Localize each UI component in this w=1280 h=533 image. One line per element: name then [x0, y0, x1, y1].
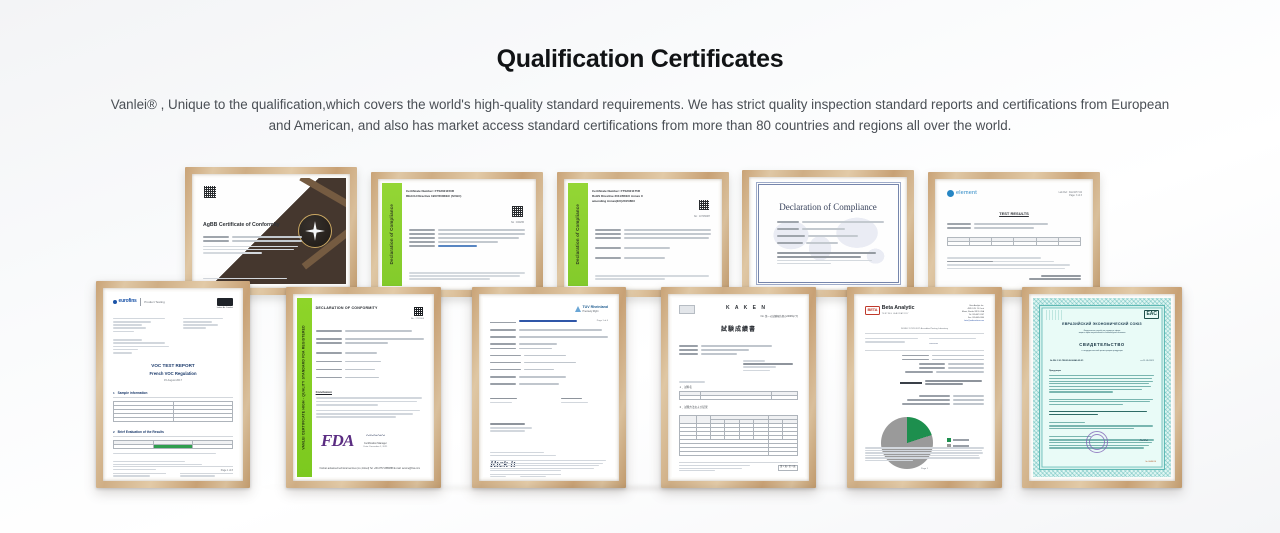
kaken-logo-text: K A K E N	[695, 305, 798, 312]
eurofins-mark-icon	[113, 300, 117, 304]
beta-logo-box: BETA	[865, 306, 880, 315]
table-cell	[1014, 242, 1036, 246]
field-row	[777, 235, 885, 237]
table-cell	[173, 417, 233, 421]
table-row	[680, 452, 798, 456]
tuv-report-number	[519, 320, 577, 322]
frame-matte: Declaration of Compliance	[749, 177, 907, 290]
field-row	[490, 369, 608, 371]
field-row	[947, 223, 1081, 225]
tuv-result-block	[561, 398, 608, 404]
field-row	[595, 237, 711, 239]
table-cell	[1058, 242, 1080, 246]
tuv-triangle-icon	[575, 306, 581, 312]
eurofins-report-subtitle: French VOC Regulation	[113, 371, 233, 377]
table-cell	[992, 242, 1014, 246]
field-row	[777, 242, 885, 244]
field-row	[679, 349, 798, 351]
field-row	[865, 371, 984, 373]
pie-chart-legend	[947, 438, 969, 448]
field-row	[865, 363, 984, 365]
tuv-other-info-block	[490, 423, 608, 431]
field-row	[203, 240, 302, 242]
certificate-paper-agbb: AgBB Certificate of Conformity	[196, 178, 346, 284]
green-band-label: VANLEI CERTIFICATE HIGH - QUALITY STANDA…	[302, 325, 307, 449]
qr-code-icon	[413, 306, 424, 317]
field-row	[595, 229, 711, 231]
field-row	[595, 233, 711, 235]
table-cell	[680, 396, 701, 400]
eac-header: ЕВРАЗИЙСКИЙ ЭКОНОМИЧЕСКИЙ СОЮЗ	[1048, 322, 1156, 327]
agbb-title: AgBB Certificate of Conformity	[203, 222, 293, 230]
field-row	[409, 245, 525, 247]
element-ref-line-2: Page: 3 of 3	[1059, 194, 1082, 197]
floor-shadow	[90, 486, 1190, 502]
eurofins-sample-table	[113, 401, 233, 422]
field-row	[777, 221, 885, 223]
certificate-frame-agbb[interactable]: AgBB Certificate of Conformity	[185, 167, 357, 295]
table-cell	[970, 242, 992, 246]
field-row	[865, 403, 984, 405]
certificate-frame-kaken[interactable]: K A K E N No. 第一の試験報告書の2008年7月 試験成績書	[661, 287, 816, 488]
table-cell	[768, 452, 797, 456]
eac-date: от 11.05.2021	[1140, 360, 1154, 363]
table-cell	[701, 396, 772, 400]
field-row	[316, 330, 424, 332]
qr-code-icon	[511, 205, 524, 218]
table-cell	[193, 444, 233, 448]
certificate-frame-declaration-of-compliance[interactable]: Declaration of Compliance	[742, 170, 914, 297]
tuv-page-number: Page 1 of 4	[597, 320, 608, 323]
beta-contact-block: Beta Analytic Inc. 4985 S.W. 74 Court Mi…	[962, 305, 984, 323]
certificate-frame-fda[interactable]: VANLEI CERTIFICATE HIGH - QUALITY STANDA…	[286, 287, 441, 488]
frame-matte: VANLEI CERTIFICATE HIGH - QUALITY STANDA…	[293, 294, 434, 481]
eurofins-section-1-number: 1	[113, 391, 115, 395]
field-row	[865, 355, 984, 357]
frame-matte: element Lab Ref : Doc3477-04 Page: 3 of …	[935, 179, 1093, 290]
table-cell	[948, 242, 970, 246]
kaken-section-2: ２．試験方法および結果	[679, 406, 798, 410]
field-row	[679, 353, 798, 355]
field-row	[865, 399, 984, 401]
page-description-line-1: Vanlei® , Unique to the qualification,wh…	[111, 97, 1077, 112]
tuv-logo-icon: TUV Rheinland Precisely Right	[575, 305, 608, 314]
field-row	[490, 383, 608, 385]
field-row	[947, 227, 1081, 229]
field-row	[409, 233, 525, 235]
certificate-paper-eac: EAC ЕВРАЗИЙСКИЙ ЭКОНОМИЧЕСКИЙ СОЮЗ Федер…	[1033, 298, 1171, 477]
beta-contact-email: beta@radiocarbon.com	[962, 320, 984, 323]
qr-code-icon	[698, 199, 710, 211]
certificate-paper-element: element Lab Ref : Doc3477-04 Page: 3 of …	[939, 183, 1089, 286]
field-row	[865, 395, 984, 397]
eac-subheader-2: защиты прав потребителей и благополучия …	[1048, 332, 1156, 335]
element-logo-icon: element	[947, 190, 977, 198]
table-cell	[1036, 242, 1058, 246]
beta-tagline: ISO/IEC 17025:2017 Accredited Testing La…	[865, 328, 984, 331]
table-row	[680, 396, 798, 400]
element-title: TEST RESULTS	[939, 211, 1089, 217]
field-row	[203, 236, 302, 238]
eurofins-report-date: 15 August 2017	[113, 379, 233, 383]
agbb-seal-icon	[298, 214, 332, 248]
eac-inner-panel: EAC ЕВРАЗИЙСКИЙ ЭКОНОМИЧЕСКИЙ СОЮЗ Федер…	[1039, 305, 1165, 470]
legend-swatch-biobased	[947, 438, 951, 442]
eac-signature: ~~	[1139, 435, 1148, 447]
table-cell	[114, 417, 174, 421]
kaken-issuer-block	[743, 360, 798, 371]
reach-ref: No : 034295	[511, 221, 524, 224]
field-row	[316, 352, 424, 354]
table-row	[114, 444, 233, 448]
eac-section-label: Продукция	[1049, 370, 1155, 373]
field-row	[865, 359, 984, 361]
green-band: Declaration of Compliance	[568, 183, 588, 286]
kaken-ref: No. 第一の試験報告書の2008年7月	[679, 315, 798, 318]
frame-matte: eurofins Product Testing Indoor Air Comf…	[103, 288, 243, 481]
table-cell-result-badge	[153, 444, 193, 448]
eurofins-logo-text: eurofins	[119, 298, 137, 305]
eurofins-result-table	[113, 440, 233, 449]
eac-number: № RU.С.01.ПМ.05.В.00040.05.21	[1050, 360, 1083, 363]
eurofins-address-block	[113, 318, 171, 332]
certificate-frame-eurofins[interactable]: eurofins Product Testing Indoor Air Comf…	[96, 281, 250, 488]
eurofins-logo-subtext: Product Testing	[144, 300, 165, 304]
field-row	[595, 247, 711, 249]
fda-footer: Foshan advanced technical services (co.,…	[316, 468, 424, 471]
certificate-paper-reach: Declaration of Compliance Certificate Nu…	[382, 183, 532, 286]
field-row	[679, 345, 798, 347]
kaken-title: 試験成績書	[679, 326, 798, 335]
field-row	[409, 237, 525, 239]
reach-header-line-2: REACH Directive 1907/2006/EC (SVHC)	[406, 194, 526, 199]
tuv-logo-subtext: Precisely Right	[582, 310, 608, 313]
official-stamp-icon	[1086, 431, 1108, 453]
eurofins-logo-icon: eurofins Product Testing	[113, 298, 165, 306]
field-row	[490, 376, 608, 378]
table-cell	[680, 452, 769, 456]
frame-matte: K A K E N No. 第一の試験報告書の2008年7月 試験成績書	[668, 294, 809, 481]
legend-label-biobased	[953, 439, 969, 441]
field-row	[490, 343, 608, 345]
certificate-frame-element-test-results[interactable]: element Lab Ref : Doc3477-04 Page: 3 of …	[928, 172, 1100, 297]
table-cell	[114, 444, 154, 448]
certificate-paper-eurofins: eurofins Product Testing Indoor Air Comf…	[107, 292, 239, 477]
element-logo-text: element	[956, 190, 977, 198]
field-row	[777, 228, 885, 230]
fda-ref: No : 2712004	[411, 318, 424, 321]
fda-signature-date: Date: December 1, 2021	[364, 446, 388, 449]
legend-label-fossil	[953, 445, 969, 447]
table-cell	[772, 396, 798, 400]
eac-badge-icon: EAC	[1144, 310, 1159, 319]
kaken-page-number: 第 1 頁 / 全 2 頁	[778, 465, 798, 471]
certificate-frame-eac[interactable]: EAC ЕВРАЗИЙСКИЙ ЭКОНОМИЧЕСКИЙ СОЮЗ Федер…	[1022, 287, 1182, 488]
page-description: Vanlei® , Unique to the qualification,wh…	[110, 95, 1170, 137]
table-header-cell	[680, 416, 697, 424]
kaken-sample-table	[679, 391, 798, 400]
fda-signature-block: ~~~~~ Certification Manager Date: Decemb…	[364, 431, 388, 449]
beta-page-number: Page 1	[858, 468, 991, 471]
indoor-air-comfort-label: Indoor Air Comfort	[217, 307, 233, 310]
field-row	[865, 367, 984, 369]
certificate-paper-rohs: Declaration of Compliance Certificate Nu…	[568, 183, 718, 286]
eac-footer-serial: № 0048016	[1146, 461, 1157, 464]
eurofins-page-number: Page 1 of 8	[221, 469, 233, 472]
page-header: Qualification Certificates Vanlei® , Uni…	[0, 0, 1280, 137]
frame-matte: AgBB Certificate of Conformity	[192, 174, 350, 288]
qr-code-icon	[203, 185, 217, 199]
certificate-paper-kaken: K A K E N No. 第一の試験報告書の2008年7月 試験成績書	[672, 298, 805, 477]
field-row	[316, 361, 424, 363]
certificate-paper-tuv: TUV Rheinland Precisely Right Page 1 of …	[483, 298, 615, 477]
eurofins-section-1-title: Sample information	[118, 391, 148, 396]
certificate-frame-rohs[interactable]: Declaration of Compliance Certificate Nu…	[557, 172, 729, 297]
certificate-paper-declaration: Declaration of Compliance	[753, 181, 903, 286]
eac-title: СВИДЕТЕЛЬСТВО	[1048, 342, 1156, 348]
rohs-header-line-3: amending Annex(EU)2015/863	[592, 199, 692, 204]
table-row	[114, 417, 233, 421]
field-row	[316, 369, 424, 371]
eac-watermark	[1046, 310, 1062, 320]
legend-item	[947, 438, 969, 442]
green-band-label: Declaration of Compliance	[389, 204, 395, 264]
field-row	[316, 338, 424, 340]
element-mark-icon	[947, 190, 954, 197]
kaken-results-table	[679, 415, 798, 456]
eurofins-section-2-title: Brief Evaluation of the Results	[118, 430, 164, 435]
field-row	[316, 377, 424, 379]
rohs-ref: No : 1074500H	[694, 215, 710, 218]
frame-matte: Declaration of Compliance Certificate Nu…	[378, 179, 536, 290]
fda-logo-icon: FDA	[321, 432, 354, 449]
frame-matte: Declaration of Compliance Certificate Nu…	[564, 179, 722, 290]
beta-logo-name: Beta Analytic	[882, 305, 915, 313]
beta-logo-subtext: TESTING LABORATORY	[882, 313, 915, 316]
kaken-section-1: １．試料名	[679, 386, 798, 390]
indoor-air-comfort-logo-icon: Indoor Air Comfort	[217, 298, 233, 310]
certificate-frame-reach[interactable]: Declaration of Compliance Certificate Nu…	[371, 172, 543, 297]
frame-matte: BETA Beta Analytic TESTING LABORATORY Be…	[854, 294, 995, 481]
four-point-star-icon	[305, 221, 325, 241]
kaken-accreditation-mark-icon	[679, 305, 695, 314]
field-row	[409, 229, 525, 231]
certificate-paper-fda: VANLEI CERTIFICATE HIGH - QUALITY STANDA…	[297, 298, 430, 477]
table-header-cell	[696, 416, 710, 424]
frame-matte: EAC ЕВРАЗИЙСКИЙ ЭКОНОМИЧЕСКИЙ СОЮЗ Федер…	[1029, 294, 1175, 481]
field-row	[490, 336, 608, 338]
frame-matte: TUV Rheinland Precisely Right Page 1 of …	[479, 294, 619, 481]
eurofins-report-title: VOC TEST REPORT	[113, 363, 233, 370]
eurofins-section-2-number: 2	[113, 430, 115, 434]
declaration-title: Declaration of Compliance	[753, 201, 903, 214]
field-row	[490, 362, 608, 364]
element-results-table	[947, 237, 1081, 246]
eurofins-lab-block	[183, 318, 233, 332]
field-row	[409, 241, 525, 243]
field-row	[490, 329, 608, 331]
table-row	[948, 242, 1081, 246]
green-band: VANLEI CERTIFICATE HIGH - QUALITY STANDA…	[297, 298, 312, 477]
field-row	[490, 348, 608, 350]
beta-analytic-logo-icon: BETA Beta Analytic TESTING LABORATORY	[865, 305, 914, 315]
field-row	[316, 342, 424, 344]
fda-conclusion-title: Conclusion	[316, 390, 424, 394]
field-row	[595, 257, 711, 259]
tuv-test-item-block	[490, 398, 544, 404]
eurofins-client-block	[113, 339, 175, 353]
green-band-label: Declaration of Compliance	[575, 204, 581, 264]
field-row	[490, 355, 608, 357]
page-title: Qualification Certificates	[0, 44, 1280, 74]
green-band: Declaration of Compliance	[382, 183, 402, 286]
certificate-frame-beta-analytic[interactable]: BETA Beta Analytic TESTING LABORATORY Be…	[847, 287, 1002, 488]
certificate-paper-beta: BETA Beta Analytic TESTING LABORATORY Be…	[858, 298, 991, 477]
certificate-frame-tuv[interactable]: TUV Rheinland Precisely Right Page 1 of …	[472, 287, 626, 488]
fda-title: DECLARATION OF CONFORMITY	[316, 306, 378, 311]
